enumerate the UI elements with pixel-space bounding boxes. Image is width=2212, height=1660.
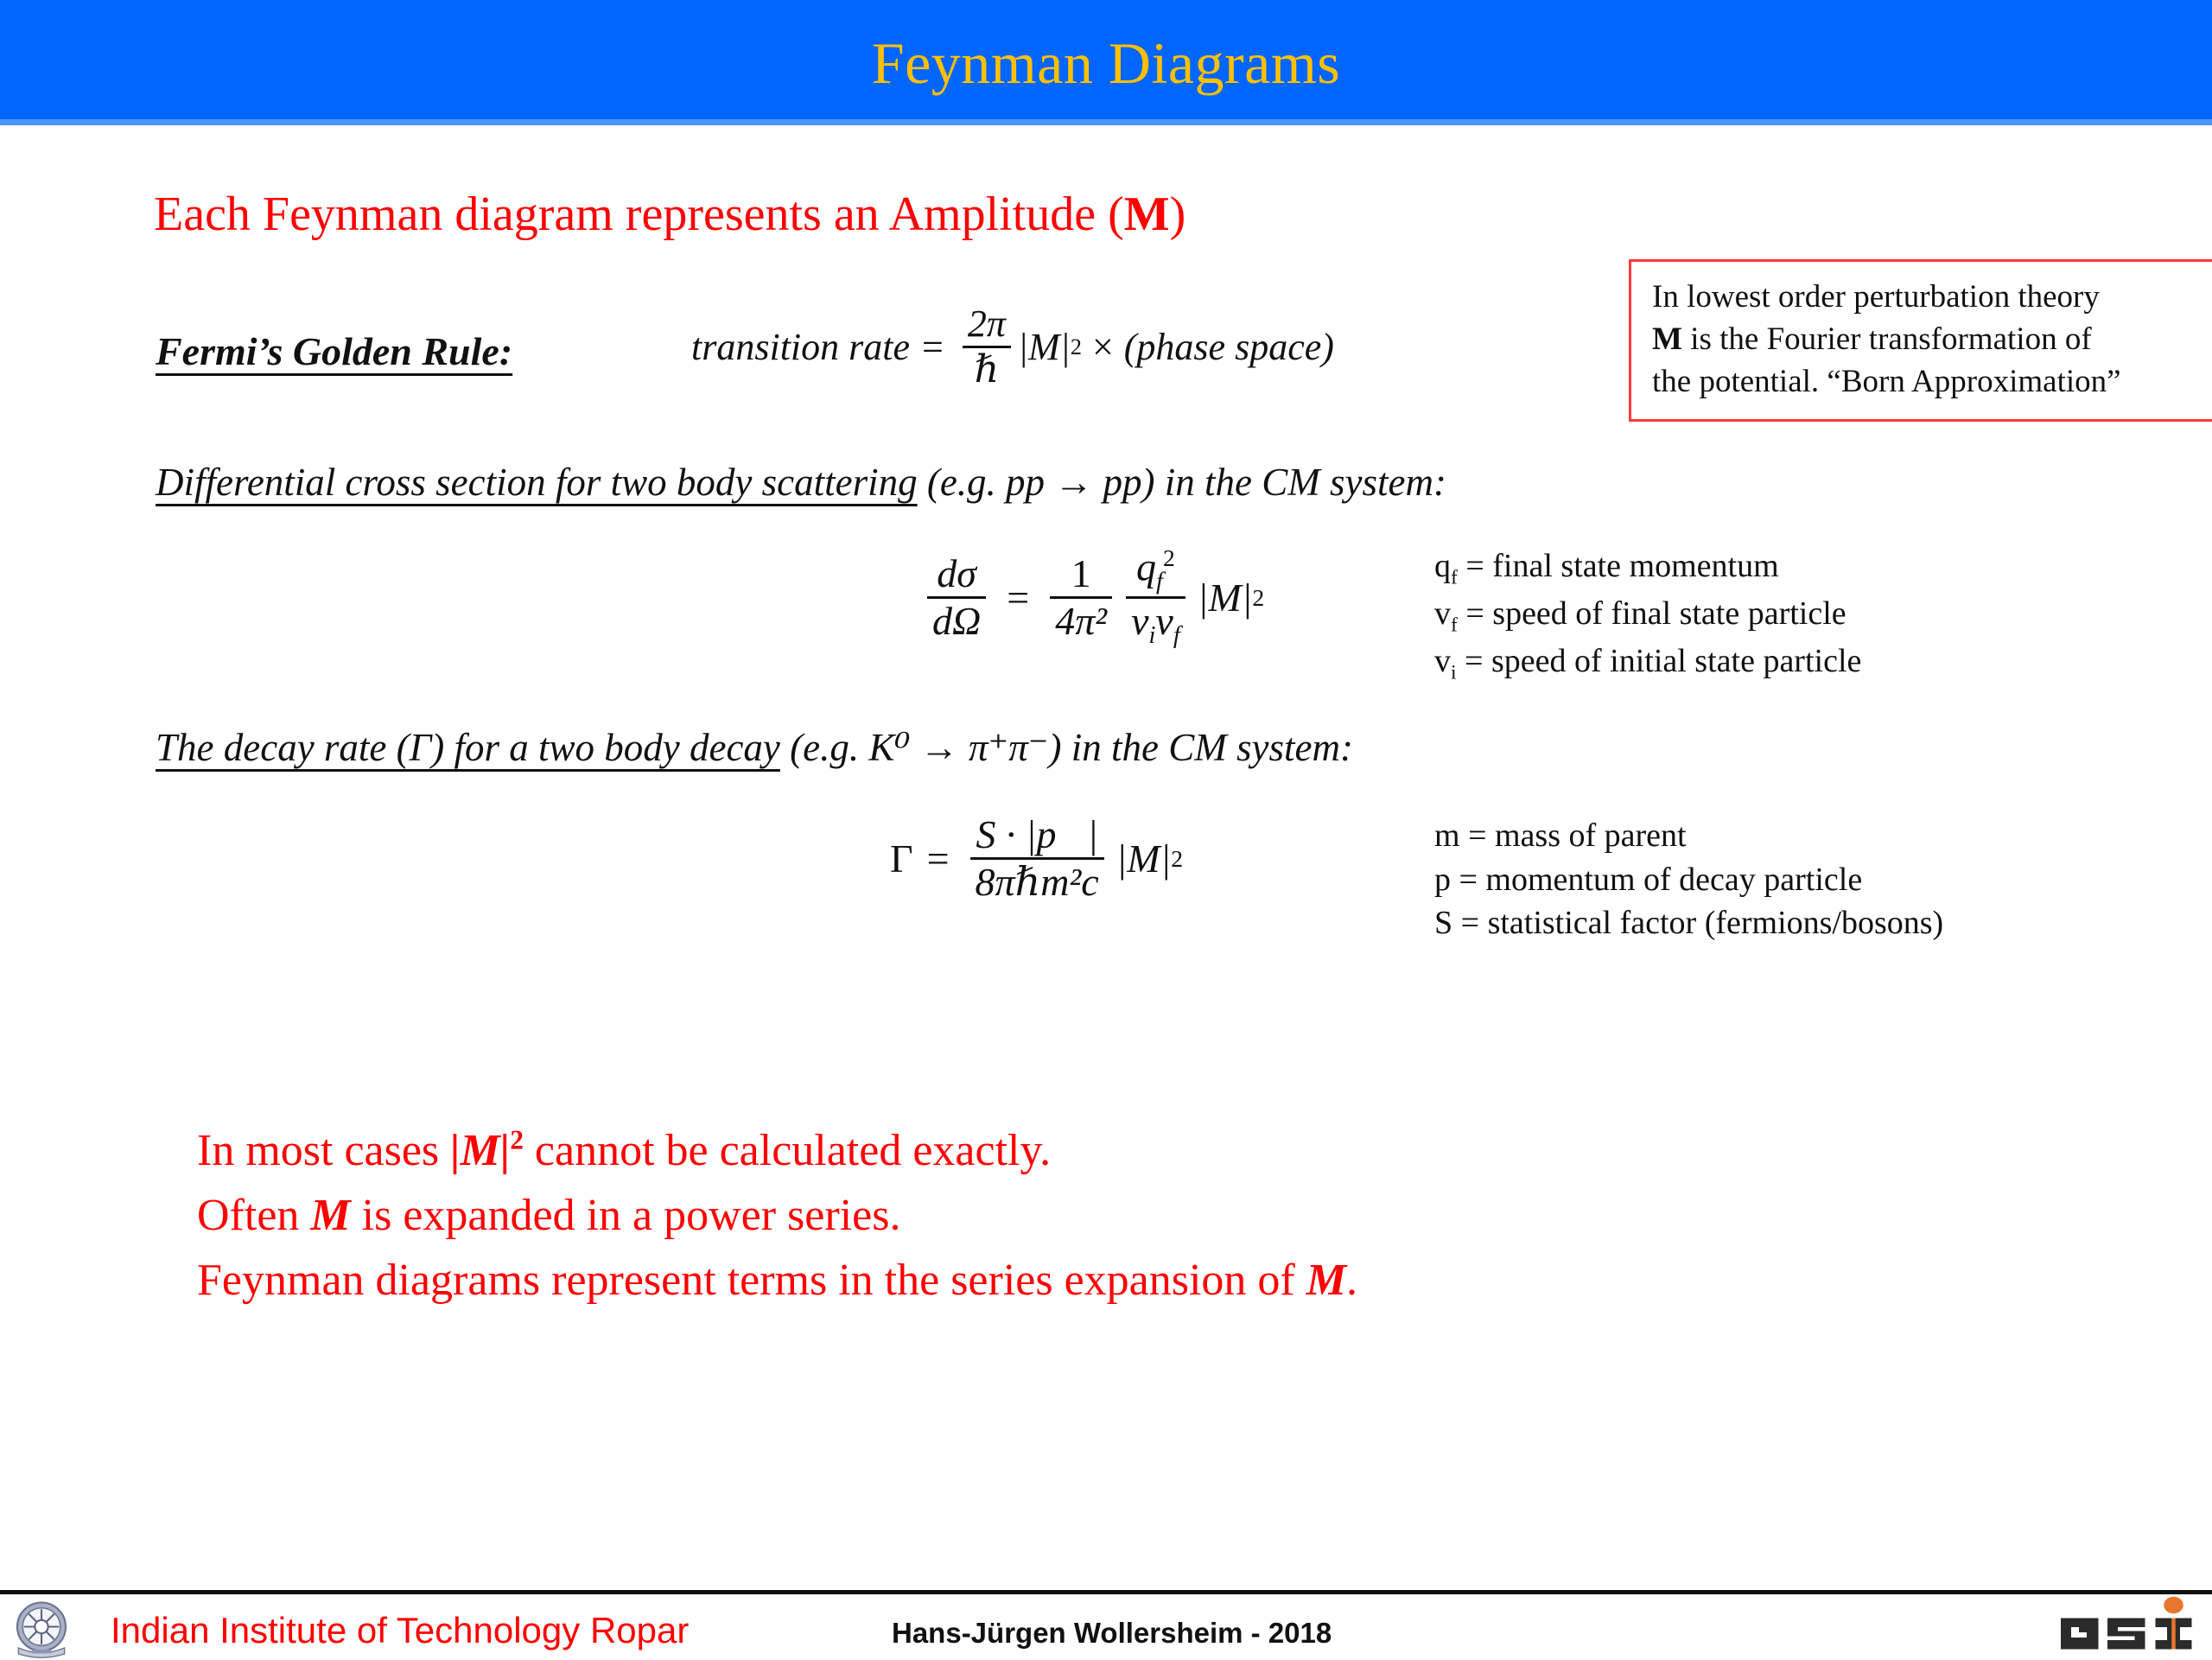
decay-rate-amplitude-exponent: 2 (1171, 845, 1183, 873)
legend-text: = speed of initial state particle (1457, 643, 1862, 679)
cross-section-heading: Differential cross section for two body … (156, 460, 1446, 505)
cross-section-vf: v (1155, 599, 1173, 643)
decay-rate-amplitude: |M| (1116, 836, 1172, 881)
summary-line-1: In most cases |M|2 cannot be calculated … (197, 1119, 1357, 1184)
legend-symbol: q (1434, 548, 1451, 584)
note-box-line-3: the potential. “Born Approximation” (1652, 360, 2212, 403)
legend-item: vi = speed of initial state particle (1434, 639, 1861, 687)
cross-section-equals: = (993, 575, 1043, 620)
legend-text: = statistical factor (fermions/bosons) (1452, 905, 1943, 941)
cross-section-f1-numerator: 1 (1066, 553, 1096, 596)
legend-item: qf = final state momentum (1434, 544, 1861, 592)
legend-text: = final state momentum (1458, 548, 1779, 584)
summary-line-1-amplitude: |M| (450, 1126, 510, 1175)
decay-rate-denominator: 8πℏm²c (970, 860, 1104, 903)
cross-section-vf-sub: f (1173, 623, 1180, 650)
title-banner-accent-line (0, 119, 2212, 125)
legend-item: p = momentum of decay particle (1434, 858, 1943, 902)
footer-institute-name: Indian Institute of Technology Ropar (111, 1610, 689, 1651)
decay-rate-heading-rest: (e.g. K⁰ → π⁺π⁻) in the CM system: (780, 726, 1353, 769)
legend-item: S = statistical factor (fermions/bosons) (1434, 901, 1943, 945)
cross-section-q: q (1136, 544, 1156, 588)
amplitude-heading-pre: Each Feynman diagram represents an Ampli… (154, 188, 1124, 241)
amplitude-heading-post: ) (1170, 188, 1186, 241)
fermi-golden-rule-formula: transition rate = 2π ℏ |M|2 × (phase spa… (691, 304, 1334, 390)
fermi-phase-space: (phase space) (1124, 325, 1334, 369)
cross-section-lhs-fraction: dσ dΩ (927, 553, 986, 643)
note-box-line-2-symbol: M (1652, 321, 1682, 357)
decay-rate-heading-underlined: The decay rate (Γ) for a two body decay (156, 726, 780, 769)
fermi-golden-rule-label: Fermi’s Golden Rule: (156, 328, 512, 374)
legend-symbol: v (1434, 643, 1451, 679)
cross-section-lhs-denominator: dΩ (927, 599, 986, 642)
cross-section-q-sup: 2 (1163, 544, 1175, 571)
legend-symbol-sub: f (1451, 614, 1458, 637)
title-banner: Feynman Diagrams (0, 0, 2212, 119)
gsi-logo-icon (2058, 1596, 2201, 1658)
legend-symbol: S (1434, 905, 1452, 941)
legend-symbol: m (1434, 817, 1460, 854)
cross-section-amplitude: |M| (1198, 575, 1253, 620)
cross-section-heading-underlined: Differential cross section for two body … (156, 461, 918, 504)
cross-section-heading-rest: (e.g. pp → pp) in the CM system: (918, 461, 1446, 504)
summary-line-3-b: . (1346, 1256, 1357, 1305)
summary-block: In most cases |M|2 cannot be calculated … (197, 1119, 1357, 1313)
amplitude-heading: Each Feynman diagram represents an Ampli… (154, 187, 1185, 242)
summary-line-2-amplitude: M (310, 1191, 350, 1240)
summary-line-2-b: is expanded in a power series. (351, 1191, 901, 1240)
legend-symbol: p (1434, 862, 1451, 898)
summary-line-3: Feynman diagrams represent terms in the … (197, 1249, 1357, 1313)
footer-author-line: Hans-Jürgen Wollersheim - 2018 (892, 1617, 1332, 1650)
cross-section-vi: v (1131, 599, 1148, 643)
cross-section-formula: dσ dΩ = 1 4π² qf2 vivf |M|2 (920, 546, 1264, 650)
summary-line-2-a: Often (197, 1191, 310, 1240)
decay-rate-heading: The decay rate (Γ) for a two body decay … (156, 724, 1353, 770)
decay-rate-formula: Γ = S · |p⃗| 8πℏm²c |M|2 (890, 814, 1183, 904)
page-title: Feynman Diagrams (872, 34, 1340, 92)
legend-item: m = mass of parent (1434, 814, 1943, 858)
note-box-line-1: In lowest order perturbation theory (1652, 276, 2212, 318)
cross-section-legend: qf = final state momentum vf = speed of … (1434, 544, 1861, 687)
decay-rate-equals: = (913, 836, 963, 881)
fermi-amplitude-exponent: 2 (1071, 334, 1082, 360)
decay-rate-legend: m = mass of parent p = momentum of decay… (1434, 814, 1943, 945)
amplitude-heading-symbol: M (1124, 188, 1170, 241)
cross-section-f1-denominator: 4π² (1050, 599, 1112, 642)
legend-text: = mass of parent (1460, 817, 1687, 854)
iit-ropar-emblem-icon (10, 1600, 73, 1660)
note-box-line-2: M is the Fourier transformation of (1652, 318, 2212, 360)
legend-item: vf = speed of final state particle (1434, 592, 1861, 639)
cross-section-fraction-1: 1 4π² (1050, 553, 1112, 643)
cross-section-f2-numerator: qf2 (1131, 546, 1180, 596)
fermi-lhs: transition rate (691, 325, 910, 369)
fermi-fraction: 2π ℏ (963, 304, 1011, 390)
fermi-amplitude: |M| (1018, 325, 1071, 369)
summary-line-1-exponent: 2 (510, 1125, 524, 1155)
cross-section-fraction-2: qf2 vivf (1126, 546, 1185, 650)
summary-line-3-amplitude: M (1306, 1256, 1346, 1305)
decay-rate-numerator: S · |p⃗| (970, 814, 1103, 857)
decay-rate-lhs: Γ (890, 836, 913, 881)
legend-text: = momentum of decay particle (1451, 862, 1862, 898)
fermi-fraction-numerator: 2π (963, 304, 1011, 346)
legend-symbol-sub: f (1451, 567, 1458, 589)
decay-rate-fraction: S · |p⃗| 8πℏm²c (970, 814, 1104, 904)
summary-line-2: Often M is expanded in a power series. (197, 1184, 1357, 1249)
fermi-times: × (1082, 325, 1124, 369)
cross-section-q-sub: f (1156, 569, 1163, 595)
cross-section-lhs-numerator: dσ (931, 553, 982, 596)
summary-line-1-b: cannot be calculated exactly. (524, 1126, 1051, 1175)
note-box-line-2-text: is the Fourier transformation of (1682, 321, 2092, 357)
footer: Indian Institute of Technology Ropar Han… (0, 1594, 2212, 1659)
summary-line-3-a: Feynman diagrams represent terms in the … (197, 1256, 1306, 1305)
cross-section-amplitude-exponent: 2 (1252, 584, 1264, 612)
summary-line-1-a: In most cases (197, 1126, 450, 1175)
born-approximation-note-box: In lowest order perturbation theory M is… (1629, 259, 2212, 422)
fermi-equals: = (910, 325, 956, 369)
legend-symbol: v (1434, 595, 1451, 632)
cross-section-f2-denominator: vivf (1126, 599, 1185, 649)
fermi-fraction-denominator: ℏ (969, 348, 1004, 390)
legend-text: = speed of final state particle (1458, 595, 1847, 632)
